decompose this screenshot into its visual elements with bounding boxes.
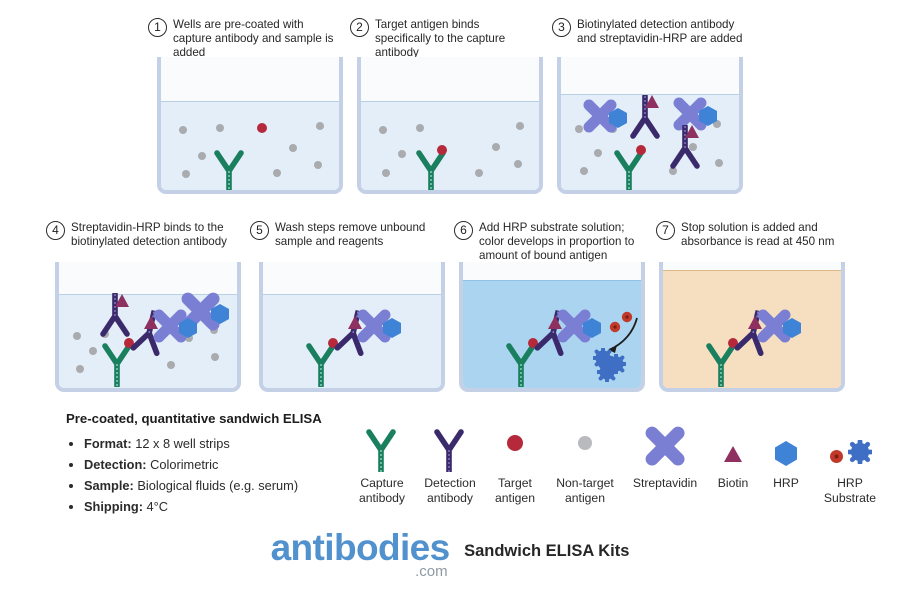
step-number-7: 7	[656, 221, 675, 240]
detection-antibody-icon	[429, 426, 471, 472]
non-target-antigen-icon	[398, 150, 406, 158]
legend-label: Capture antibody	[359, 476, 405, 505]
capture-antibody-icon	[209, 147, 249, 194]
non-target-antigen-icon	[182, 170, 190, 178]
info-label-shipping: Shipping:	[84, 499, 143, 514]
well-body-5	[259, 262, 445, 392]
non-target-antigen-icon	[289, 144, 297, 152]
product-info-block: Pre-coated, quantitative sandwich ELISA …	[66, 411, 356, 517]
capture-antibody-icon	[361, 426, 403, 472]
legend-item-detection-antibody: Detection antibody	[416, 426, 484, 505]
well-body-2	[357, 57, 543, 194]
well-step-7	[659, 262, 845, 392]
brand-domain: .com	[415, 565, 448, 579]
hrp-substrate-product-icon	[597, 362, 617, 382]
non-target-antigen-icon	[492, 143, 500, 151]
step-caption-4: 4 Streptavidin-HRP binds to the biotinyl…	[46, 221, 236, 249]
non-target-antigen-icon	[715, 159, 723, 167]
legend-graphic	[361, 426, 403, 472]
non-target-antigen-icon	[73, 332, 81, 340]
legend-graphic	[577, 426, 593, 472]
step-text-3: Biotinylated detection antibody and stre…	[577, 18, 748, 46]
brand-logo: antibodies .com	[271, 529, 450, 567]
biotin-icon	[723, 445, 743, 464]
legend-item-biotin: Biotin	[706, 426, 760, 491]
legend-item-hrp: HRP	[760, 426, 812, 491]
step-caption-6: 6 Add HRP substrate solution; color deve…	[454, 221, 640, 264]
info-item-format: Format: 12 x 8 well strips	[84, 433, 356, 454]
step-caption-3: 3 Biotinylated detection antibody and st…	[552, 18, 748, 46]
well-air-2	[361, 57, 539, 105]
biotin-icon	[114, 293, 131, 309]
info-label-format: Format:	[84, 436, 132, 451]
hrp-icon	[177, 317, 199, 339]
step-text-4: Streptavidin-HRP binds to the biotinylat…	[71, 221, 236, 249]
well-body-3	[557, 57, 743, 194]
hrp-icon	[209, 303, 231, 325]
info-label-sample: Sample:	[84, 478, 134, 493]
info-value-sample: Biological fluids (e.g. serum)	[134, 478, 298, 493]
info-label-detection: Detection:	[84, 457, 147, 472]
legend-label: Target antigen	[495, 476, 535, 505]
legend-label: Detection antibody	[424, 476, 476, 505]
step-text-5: Wash steps remove unbound sample and rea…	[275, 221, 430, 249]
step-text-7: Stop solution is added and absorbance is…	[681, 221, 844, 249]
hrp-icon	[781, 317, 803, 339]
non-target-antigen-icon	[211, 353, 219, 361]
well-body-1	[157, 57, 343, 194]
hrp-substrate-reactant-icon	[829, 449, 844, 464]
non-target-antigen-icon	[516, 122, 524, 130]
footer-tagline: Sandwich ELISA Kits	[464, 542, 629, 561]
legend-label: Biotin	[718, 476, 749, 491]
hrp-substrate-icon	[621, 311, 633, 323]
step-number-3: 3	[552, 18, 571, 37]
step-text-6: Add HRP substrate solution; color develo…	[479, 221, 640, 264]
target-antigen-icon	[257, 123, 267, 133]
well-step-6	[459, 262, 645, 392]
hrp-substrate-product-icon	[848, 440, 872, 464]
well-air-5	[263, 262, 441, 298]
non-target-antigen-icon	[273, 169, 281, 177]
non-target-antigen-icon	[314, 161, 322, 169]
legend-label: HRP Substrate	[824, 476, 876, 505]
well-body-7	[659, 262, 845, 392]
step-text-1: Wells are pre-coated with capture antibo…	[173, 18, 334, 61]
legend-item-target-antigen: Target antigen	[484, 426, 546, 505]
brand-name: antibodies	[271, 527, 450, 568]
elisa-diagram: 1 Wells are pre-coated with capture anti…	[0, 0, 900, 594]
non-target-antigen-icon	[76, 365, 84, 373]
well-air-1	[161, 57, 339, 105]
non-target-antigen-icon	[594, 149, 602, 157]
target-antigen-icon	[636, 145, 646, 155]
well-step-4	[55, 262, 241, 392]
legend-graphic	[773, 426, 799, 472]
info-value-format: 12 x 8 well strips	[132, 436, 230, 451]
product-info-title: Pre-coated, quantitative sandwich ELISA	[66, 411, 356, 426]
streptavidin-icon	[645, 426, 685, 466]
capture-antibody-icon	[411, 147, 451, 194]
step-number-2: 2	[350, 18, 369, 37]
non-target-antigen-icon	[167, 361, 175, 369]
well-body-6	[459, 262, 645, 392]
non-target-antigen-icon	[382, 169, 390, 177]
legend-item-hrp-substrate: HRP Substrate	[812, 426, 888, 505]
non-target-antigen-icon	[580, 167, 588, 175]
step-number-5: 5	[250, 221, 269, 240]
step-number-1: 1	[148, 18, 167, 37]
non-target-antigen-icon	[379, 126, 387, 134]
step-caption-1: 1 Wells are pre-coated with capture anti…	[148, 18, 334, 61]
biotin-icon	[644, 94, 661, 110]
target-antigen-icon	[437, 145, 447, 155]
legend-graphic	[829, 426, 872, 472]
step-text-2: Target antigen binds specifically to the…	[375, 18, 538, 61]
non-target-antigen-icon	[89, 347, 97, 355]
step-number-4: 4	[46, 221, 65, 240]
step-number-6: 6	[454, 221, 473, 240]
well-step-5	[259, 262, 445, 392]
info-value-shipping: 4°C	[143, 499, 168, 514]
legend-label: Non-target antigen	[556, 476, 614, 505]
non-target-antigen-icon	[179, 126, 187, 134]
info-item-detection: Detection: Colorimetric	[84, 454, 356, 475]
info-item-sample: Sample: Biological fluids (e.g. serum)	[84, 475, 356, 496]
well-body-4	[55, 262, 241, 392]
non-target-antigen-icon	[216, 124, 224, 132]
hrp-substrate-icon	[609, 321, 621, 333]
step-caption-2: 2 Target antigen binds specifically to t…	[350, 18, 538, 61]
target-antigen-icon	[506, 434, 524, 452]
hrp-icon	[381, 317, 403, 339]
legend-graphic	[429, 426, 471, 472]
non-target-antigen-icon	[198, 152, 206, 160]
legend-item-non-target-antigen: Non-target antigen	[546, 426, 624, 505]
legend-graphic	[506, 426, 524, 472]
non-target-antigen-icon	[514, 160, 522, 168]
legend-item-streptavidin: Streptavidin	[624, 426, 706, 491]
info-item-shipping: Shipping: 4°C	[84, 496, 356, 517]
well-step-2	[357, 57, 543, 194]
non-target-antigen-icon	[416, 124, 424, 132]
legend-graphic	[645, 426, 685, 472]
legend-graphic	[723, 426, 743, 472]
legend-label: Streptavidin	[633, 476, 697, 491]
step-caption-5: 5 Wash steps remove unbound sample and r…	[250, 221, 430, 249]
non-target-antigen-icon	[316, 122, 324, 130]
legend: Capture antibody Detection antibody Targ…	[348, 426, 888, 505]
product-info-list: Format: 12 x 8 well strips Detection: Co…	[84, 433, 356, 517]
hrp-icon	[773, 440, 799, 466]
footer: antibodies .com Sandwich ELISA Kits	[0, 529, 900, 567]
biotin-icon	[684, 124, 701, 140]
non-target-antigen-icon	[575, 125, 583, 133]
well-step-3	[557, 57, 743, 194]
info-value-detection: Colorimetric	[147, 457, 219, 472]
well-air-3	[561, 57, 739, 98]
well-step-1	[157, 57, 343, 194]
legend-item-capture-antibody: Capture antibody	[348, 426, 416, 505]
legend-label: HRP	[773, 476, 799, 491]
non-target-antigen-icon	[475, 169, 483, 177]
step-caption-7: 7 Stop solution is added and absorbance …	[656, 221, 844, 249]
non-target-antigen-icon	[577, 435, 593, 451]
